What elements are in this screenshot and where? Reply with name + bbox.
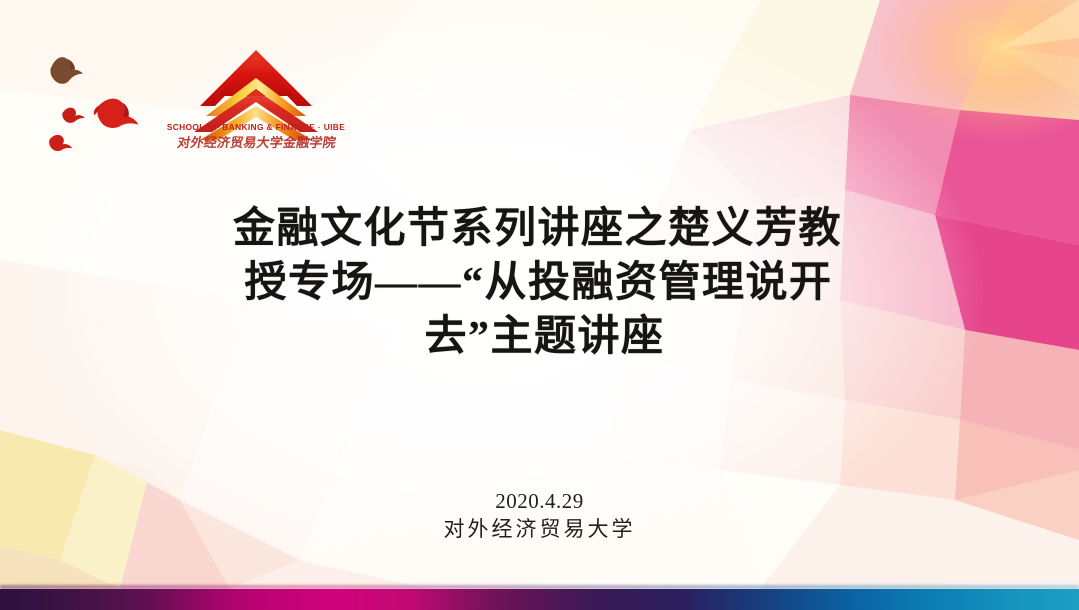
bird-icon: [62, 106, 85, 123]
uibe-school-of-banking-and-finance-logo: SCHOOL OF BANKING & FINANCE · UIBE 对外经济贸…: [166, 44, 346, 152]
logo-english-text: SCHOOL OF BANKING & FINANCE · UIBE: [167, 122, 345, 132]
logo-artwork: SCHOOL OF BANKING & FINANCE · UIBE 对外经济贸…: [166, 44, 346, 152]
title-line-1: 金融文化节系列讲座之楚义芳教: [0, 202, 1079, 256]
bird-icon: [48, 53, 84, 85]
slide-title: 金融文化节系列讲座之楚义芳教 授专场——“从投融资管理说开 去”主题讲座: [0, 202, 1079, 364]
title-line-3: 去”主题讲座: [0, 310, 1079, 364]
slide-footer: 2020.4.29 对外经济贸易大学: [0, 488, 1079, 544]
event-date: 2020.4.29: [0, 488, 1079, 515]
bird-icon: [92, 96, 141, 131]
presentation-slide: SCHOOL OF BANKING & FINANCE · UIBE 对外经济贸…: [0, 0, 1079, 610]
organization-name: 对外经济贸易大学: [0, 515, 1079, 544]
bird-icon: [49, 134, 74, 152]
logo-chinese-text: 对外经济贸易大学金融学院: [176, 134, 337, 150]
flying-birds-decoration: [24, 44, 164, 164]
title-line-2: 授专场——“从投融资管理说开: [0, 256, 1079, 310]
bottom-accent-bar: [0, 589, 1079, 610]
